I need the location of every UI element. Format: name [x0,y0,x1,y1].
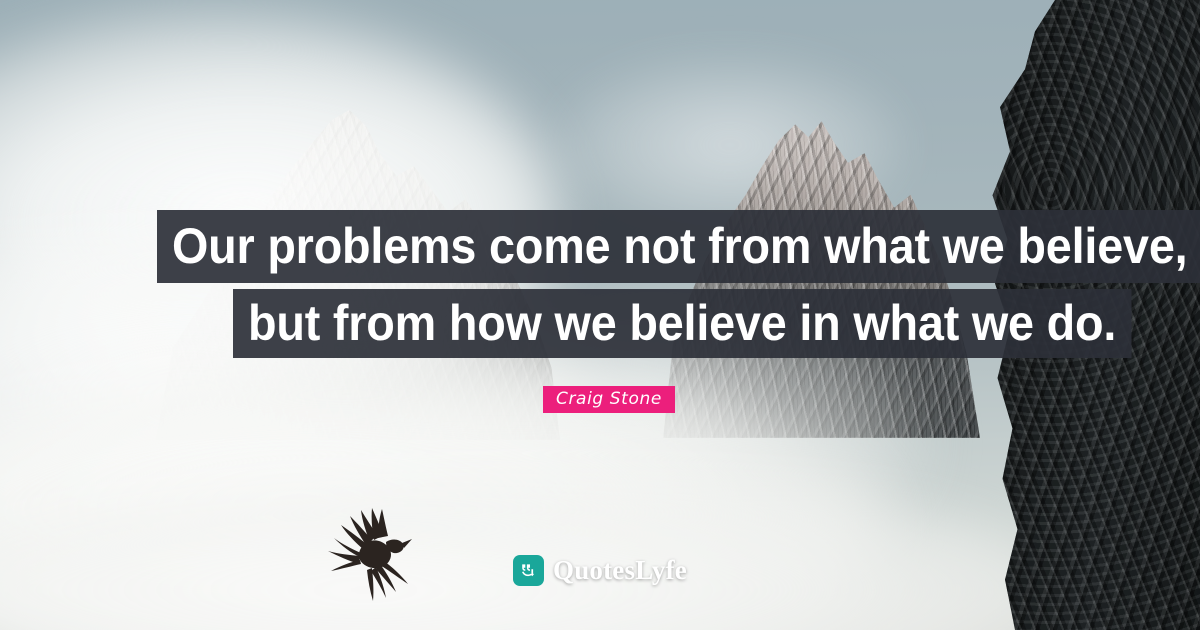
quote-text-block: Our problems come not from what we belie… [0,210,1200,358]
brand-name: QuotesLyfe [553,555,687,586]
quote-marks-icon [513,555,544,586]
brand-logo[interactable]: QuotesLyfe [0,555,1200,586]
quote-card: Our problems come not from what we belie… [0,0,1200,630]
quote-line-1: Our problems come not from what we belie… [157,210,1200,283]
quote-line-2-row: but from how we believe in what we do. [0,289,1200,358]
quote-line-2: but from how we believe in what we do. [233,289,1131,358]
quote-line-1-row: Our problems come not from what we belie… [0,210,1200,283]
author-badge[interactable]: Craig Stone [543,386,675,413]
